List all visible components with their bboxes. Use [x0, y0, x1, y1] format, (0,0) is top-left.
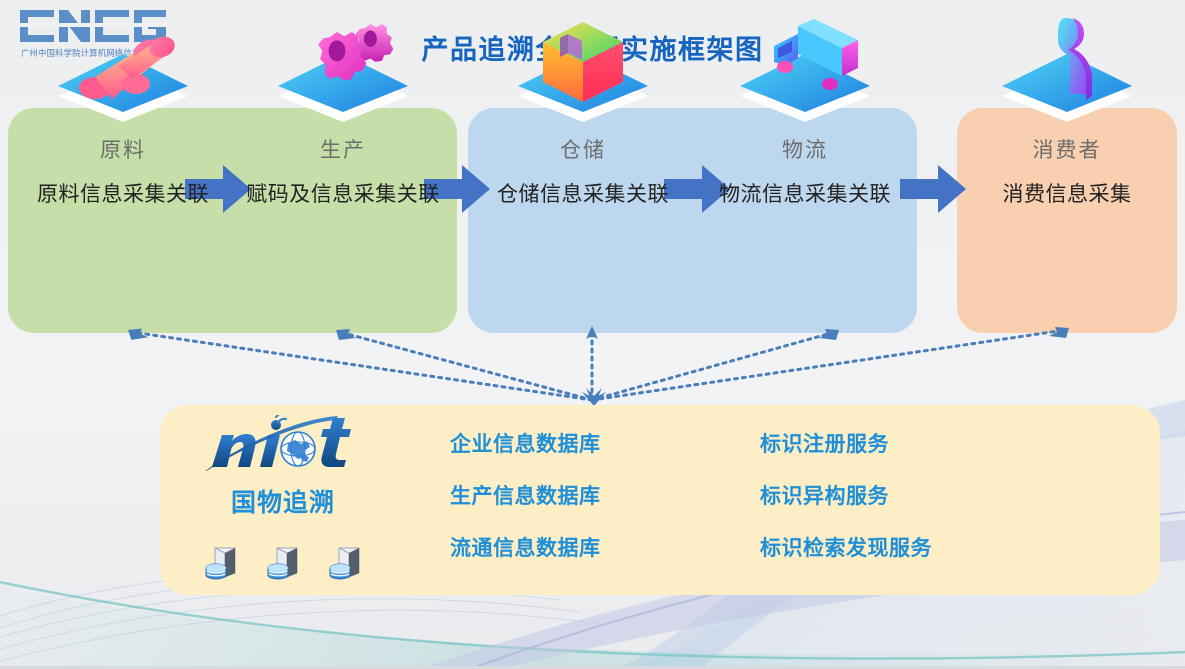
stage-desc: 原料信息采集关联 [8, 178, 238, 208]
platform-brand: 国物追溯 [188, 483, 378, 519]
consumer-person-icon [992, 14, 1142, 126]
stage-desc: 消费信息采集 [957, 178, 1177, 208]
production-gears-icon [268, 14, 418, 126]
stage-name: 原料 [8, 134, 238, 164]
platform-column-databases: 企业信息数据库 生产信息数据库 流通信息数据库 [450, 419, 750, 575]
dotted-arrow-icon [592, 330, 1065, 400]
delivery-truck-icon [730, 14, 880, 126]
database-server-icon [265, 542, 305, 582]
stage-logistics[interactable]: 物流 物流信息采集关联 [690, 0, 920, 225]
platform-item[interactable]: 流通信息数据库 [450, 523, 750, 575]
dotted-arrow-icon [132, 332, 592, 400]
platform-panel: 国物追溯 [160, 405, 1160, 595]
database-server-icon [327, 542, 367, 582]
stage-raw-material[interactable]: 原料 原料信息采集关联 [8, 0, 238, 225]
stage-consumer[interactable]: 消费者 消费信息采集 [957, 0, 1177, 225]
warehouse-box-icon [508, 14, 658, 126]
platform-item[interactable]: 标识检索发现服务 [760, 523, 1060, 575]
stage-name: 物流 [690, 134, 920, 164]
stage-desc: 赋码及信息采集关联 [228, 178, 458, 208]
database-icon-group [190, 540, 380, 584]
stage-warehouse[interactable]: 仓储 仓储信息采集关联 [468, 0, 698, 225]
stage-production[interactable]: 生产 赋码及信息采集关联 [228, 0, 458, 225]
database-server-icon [203, 542, 243, 582]
platform-item[interactable]: 企业信息数据库 [450, 419, 750, 471]
stage-name: 生产 [228, 134, 458, 164]
stage-name: 仓储 [468, 134, 698, 164]
stage-desc: 物流信息采集关联 [690, 178, 920, 208]
raw-material-icon [48, 14, 198, 126]
niot-globe-logo [202, 415, 362, 471]
stage-name: 消费者 [957, 134, 1177, 164]
platform-column-services: 标识注册服务 标识异构服务 标识检索发现服务 [760, 419, 1060, 575]
dotted-arrow-icon [592, 332, 835, 400]
platform-item[interactable]: 标识注册服务 [760, 419, 1060, 471]
platform-item[interactable]: 生产信息数据库 [450, 471, 750, 523]
stage-desc: 仓储信息采集关联 [468, 178, 698, 208]
dotted-arrow-icon [340, 332, 592, 400]
platform-item[interactable]: 标识异构服务 [760, 471, 1060, 523]
